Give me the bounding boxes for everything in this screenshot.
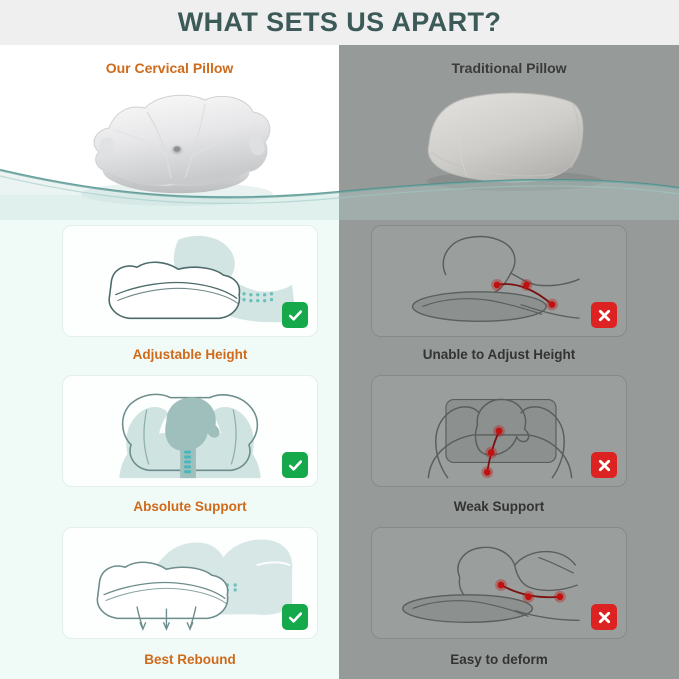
title-bar: WHAT SETS US APART? [0, 0, 679, 45]
feature-card-con-3 [371, 527, 627, 639]
feature-card-pro-2 [62, 375, 318, 487]
illustration-unable-to-adjust-height [372, 226, 626, 336]
feature-label-pro-2: Absolute Support [62, 495, 318, 517]
feature-card-pro-1 [62, 225, 318, 337]
check-badge [282, 302, 308, 328]
x-badge [591, 302, 617, 328]
feature-label-con-3: Easy to deform [371, 648, 627, 670]
illustration-best-rebound [63, 528, 317, 638]
feature-label-con-1: Unable to Adjust Height [371, 343, 627, 365]
feature-label-pro-1: Adjustable Height [62, 343, 318, 365]
x-badge [591, 452, 617, 478]
feature-card-pro-3 [62, 527, 318, 639]
cervical-pillow-image [55, 78, 295, 208]
feature-label-con-2: Weak Support [371, 495, 627, 517]
page-title: WHAT SETS US APART? [178, 7, 502, 38]
feature-label-pro-3: Best Rebound [62, 648, 318, 670]
illustration-weak-support [372, 376, 626, 486]
illustration-adjustable-height [63, 226, 317, 336]
feature-card-con-2 [371, 375, 627, 487]
check-badge [282, 604, 308, 630]
x-badge [591, 604, 617, 630]
traditional-pillow-image [405, 82, 620, 197]
right-column-header: Traditional Pillow [339, 58, 679, 78]
illustration-easy-to-deform [372, 528, 626, 638]
left-column-header: Our Cervical Pillow [0, 58, 339, 78]
feature-card-con-1 [371, 225, 627, 337]
check-badge [282, 452, 308, 478]
comparison-infographic: WHAT SETS US APART? [0, 0, 679, 679]
illustration-absolute-support [63, 376, 317, 486]
